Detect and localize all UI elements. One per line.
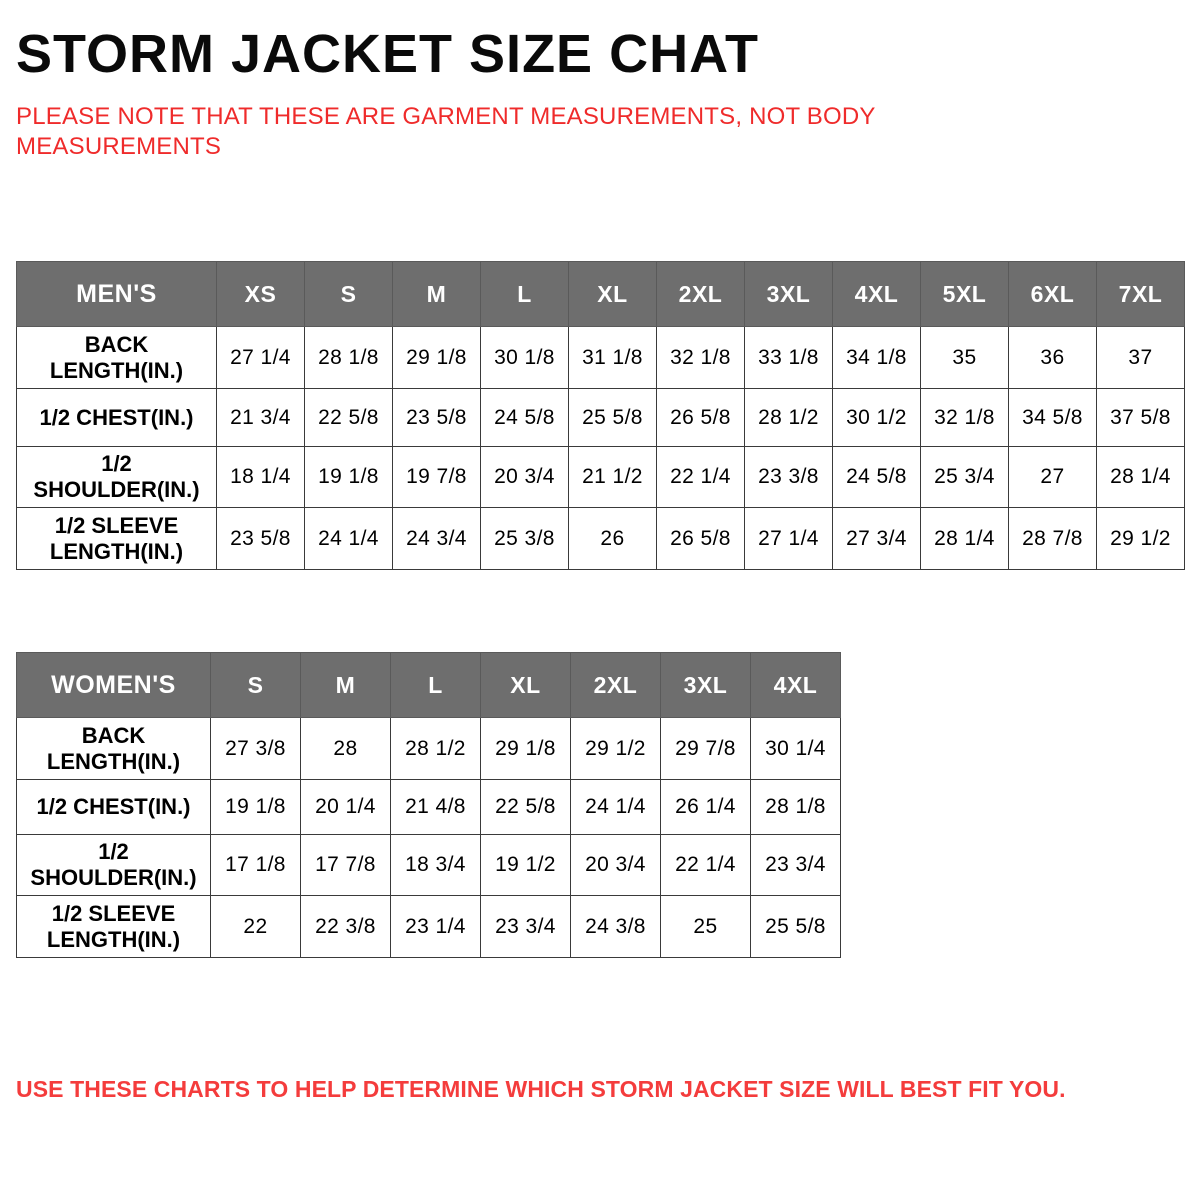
womens-header-row: WOMEN'S S M L XL 2XL 3XL 4XL — [17, 653, 841, 718]
cell: 22 3/8 — [301, 896, 391, 958]
cell: 22 — [211, 896, 301, 958]
cell: 22 1/4 — [661, 835, 751, 896]
table-row: 1/2 SLEEVE LENGTH(IN.) 22 22 3/8 23 1/4 … — [17, 896, 841, 958]
table-row: 1/2 SHOULDER(IN.) 17 1/8 17 7/8 18 3/4 1… — [17, 835, 841, 896]
mens-size-table: MEN'S XS S M L XL 2XL 3XL 4XL 5XL 6XL 7X… — [16, 261, 1185, 570]
cell: 34 1/8 — [833, 327, 921, 389]
cell: 22 5/8 — [481, 780, 571, 835]
cell: 32 1/8 — [921, 389, 1009, 447]
womens-col-2xl: 2XL — [571, 653, 661, 718]
womens-row-label-half-sleeve-length: 1/2 SLEEVE LENGTH(IN.) — [17, 896, 211, 958]
cell: 23 1/4 — [391, 896, 481, 958]
cell: 25 3/8 — [481, 508, 569, 570]
cell: 20 1/4 — [301, 780, 391, 835]
womens-col-m: M — [301, 653, 391, 718]
cell: 24 5/8 — [481, 389, 569, 447]
table-row: 1/2 SLEEVE LENGTH(IN.) 23 5/8 24 1/4 24 … — [17, 508, 1185, 570]
cell: 29 1/8 — [481, 718, 571, 780]
cell: 22 1/4 — [657, 447, 745, 508]
cell: 28 1/2 — [745, 389, 833, 447]
cell: 23 5/8 — [393, 389, 481, 447]
cell: 25 5/8 — [751, 896, 841, 958]
mens-col-6xl: 6XL — [1009, 262, 1097, 327]
cell: 29 1/2 — [1097, 508, 1185, 570]
cell: 24 3/4 — [393, 508, 481, 570]
cell: 28 1/8 — [305, 327, 393, 389]
cell: 27 — [1009, 447, 1097, 508]
cell: 23 3/8 — [745, 447, 833, 508]
cell: 18 3/4 — [391, 835, 481, 896]
cell: 21 4/8 — [391, 780, 481, 835]
cell: 27 3/4 — [833, 508, 921, 570]
cell: 26 — [569, 508, 657, 570]
womens-table-body: BACK LENGTH(IN.) 27 3/8 28 28 1/2 29 1/8… — [17, 718, 841, 958]
cell: 19 1/8 — [305, 447, 393, 508]
cell: 17 7/8 — [301, 835, 391, 896]
cell: 19 1/2 — [481, 835, 571, 896]
mens-row-label-half-sleeve-length: 1/2 SLEEVE LENGTH(IN.) — [17, 508, 217, 570]
cell: 19 7/8 — [393, 447, 481, 508]
cell: 23 3/4 — [751, 835, 841, 896]
womens-corner-label: WOMEN'S — [17, 653, 211, 718]
garment-measurement-note: PLEASE NOTE THAT THESE ARE GARMENT MEASU… — [16, 84, 976, 162]
mens-col-l: L — [481, 262, 569, 327]
womens-size-table: WOMEN'S S M L XL 2XL 3XL 4XL BACK LENGTH… — [16, 652, 841, 958]
cell: 29 1/2 — [571, 718, 661, 780]
cell: 24 5/8 — [833, 447, 921, 508]
cell: 19 1/8 — [211, 780, 301, 835]
cell: 33 1/8 — [745, 327, 833, 389]
table-row: 1/2 SHOULDER(IN.) 18 1/4 19 1/8 19 7/8 2… — [17, 447, 1185, 508]
cell: 24 1/4 — [571, 780, 661, 835]
cell: 31 1/8 — [569, 327, 657, 389]
cell: 26 1/4 — [661, 780, 751, 835]
cell: 24 1/4 — [305, 508, 393, 570]
womens-col-xl: XL — [481, 653, 571, 718]
cell: 25 5/8 — [569, 389, 657, 447]
cell: 28 7/8 — [1009, 508, 1097, 570]
cell: 18 1/4 — [217, 447, 305, 508]
cell: 20 3/4 — [481, 447, 569, 508]
womens-col-l: L — [391, 653, 481, 718]
mens-col-3xl: 3XL — [745, 262, 833, 327]
table-row: 1/2 CHEST(IN.) 21 3/4 22 5/8 23 5/8 24 5… — [17, 389, 1185, 447]
mens-col-7xl: 7XL — [1097, 262, 1185, 327]
cell: 29 7/8 — [661, 718, 751, 780]
cell: 37 — [1097, 327, 1185, 389]
cell: 26 5/8 — [657, 389, 745, 447]
mens-row-label-half-chest: 1/2 CHEST(IN.) — [17, 389, 217, 447]
cell: 23 3/4 — [481, 896, 571, 958]
mens-corner-label: MEN'S — [17, 262, 217, 327]
cell: 35 — [921, 327, 1009, 389]
cell: 30 1/2 — [833, 389, 921, 447]
mens-row-label-half-shoulder: 1/2 SHOULDER(IN.) — [17, 447, 217, 508]
cell: 27 1/4 — [217, 327, 305, 389]
cell: 29 1/8 — [393, 327, 481, 389]
womens-row-label-half-chest: 1/2 CHEST(IN.) — [17, 780, 211, 835]
cell: 28 1/4 — [1097, 447, 1185, 508]
table-row: 1/2 CHEST(IN.) 19 1/8 20 1/4 21 4/8 22 5… — [17, 780, 841, 835]
mens-col-m: M — [393, 262, 481, 327]
womens-row-label-half-shoulder: 1/2 SHOULDER(IN.) — [17, 835, 211, 896]
mens-header-row: MEN'S XS S M L XL 2XL 3XL 4XL 5XL 6XL 7X… — [17, 262, 1185, 327]
mens-col-5xl: 5XL — [921, 262, 1009, 327]
mens-col-xl: XL — [569, 262, 657, 327]
cell: 21 3/4 — [217, 389, 305, 447]
mens-col-s: S — [305, 262, 393, 327]
womens-col-4xl: 4XL — [751, 653, 841, 718]
table-row: BACK LENGTH(IN.) 27 1/4 28 1/8 29 1/8 30… — [17, 327, 1185, 389]
cell: 28 1/8 — [751, 780, 841, 835]
cell: 24 3/8 — [571, 896, 661, 958]
cell: 36 — [1009, 327, 1097, 389]
cell: 26 5/8 — [657, 508, 745, 570]
cell: 22 5/8 — [305, 389, 393, 447]
cell: 28 — [301, 718, 391, 780]
cell: 21 1/2 — [569, 447, 657, 508]
cell: 25 3/4 — [921, 447, 1009, 508]
table-row: BACK LENGTH(IN.) 27 3/8 28 28 1/2 29 1/8… — [17, 718, 841, 780]
mens-table-header: MEN'S XS S M L XL 2XL 3XL 4XL 5XL 6XL 7X… — [17, 262, 1185, 327]
cell: 27 1/4 — [745, 508, 833, 570]
cell: 34 5/8 — [1009, 389, 1097, 447]
cell: 20 3/4 — [571, 835, 661, 896]
cell: 30 1/4 — [751, 718, 841, 780]
help-determine-size-note: USE THESE CHARTS TO HELP DETERMINE WHICH… — [16, 1075, 1066, 1103]
cell: 25 — [661, 896, 751, 958]
womens-row-label-back-length: BACK LENGTH(IN.) — [17, 718, 211, 780]
mens-table-body: BACK LENGTH(IN.) 27 1/4 28 1/8 29 1/8 30… — [17, 327, 1185, 570]
womens-col-s: S — [211, 653, 301, 718]
cell: 27 3/8 — [211, 718, 301, 780]
mens-row-label-back-length: BACK LENGTH(IN.) — [17, 327, 217, 389]
mens-col-xs: XS — [217, 262, 305, 327]
womens-table-header: WOMEN'S S M L XL 2XL 3XL 4XL — [17, 653, 841, 718]
cell: 23 5/8 — [217, 508, 305, 570]
size-chart-page: STORM JACKET SIZE CHAT PLEASE NOTE THAT … — [0, 0, 1200, 1200]
cell: 32 1/8 — [657, 327, 745, 389]
page-title: STORM JACKET SIZE CHAT — [16, 0, 1184, 84]
cell: 28 1/2 — [391, 718, 481, 780]
cell: 37 5/8 — [1097, 389, 1185, 447]
cell: 17 1/8 — [211, 835, 301, 896]
mens-col-2xl: 2XL — [657, 262, 745, 327]
cell: 28 1/4 — [921, 508, 1009, 570]
cell: 30 1/8 — [481, 327, 569, 389]
mens-col-4xl: 4XL — [833, 262, 921, 327]
womens-col-3xl: 3XL — [661, 653, 751, 718]
